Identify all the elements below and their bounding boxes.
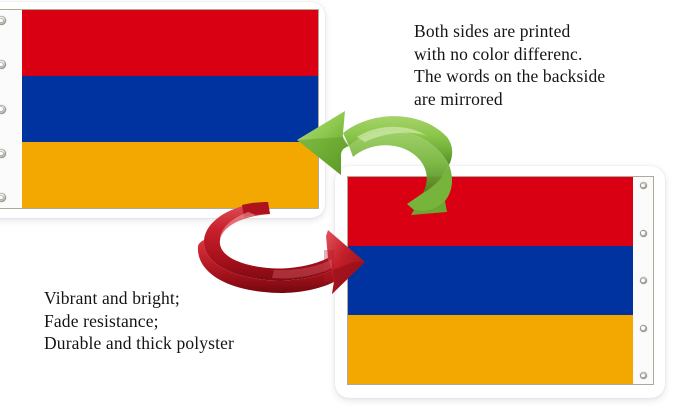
grommet-icon (640, 325, 647, 332)
grommet-icon (0, 193, 6, 202)
flag-front (0, 10, 318, 208)
grommet-icon (640, 182, 647, 189)
flag-band-blue (22, 76, 318, 142)
flag-front-hoist-strip (0, 10, 22, 208)
flag-band-gold (348, 315, 633, 384)
grommet-icon (640, 372, 647, 379)
grommet-icon (0, 60, 6, 69)
flag-back-hoist-strip (633, 177, 653, 384)
flag-band-red (22, 10, 318, 76)
product-infographic: Both sides are printed with no color dif… (0, 0, 679, 408)
caption-top-right: Both sides are printed with no color dif… (414, 20, 605, 110)
grommet-icon (0, 16, 6, 25)
flag-band-blue (348, 246, 633, 315)
grommet-icon (640, 230, 647, 237)
grommet-icon (0, 105, 6, 114)
grommet-icon (640, 277, 647, 284)
caption-bottom-left: Vibrant and bright; Fade resistance; Dur… (44, 287, 234, 355)
grommet-icon (0, 149, 6, 158)
flag-front-bands (22, 10, 318, 208)
